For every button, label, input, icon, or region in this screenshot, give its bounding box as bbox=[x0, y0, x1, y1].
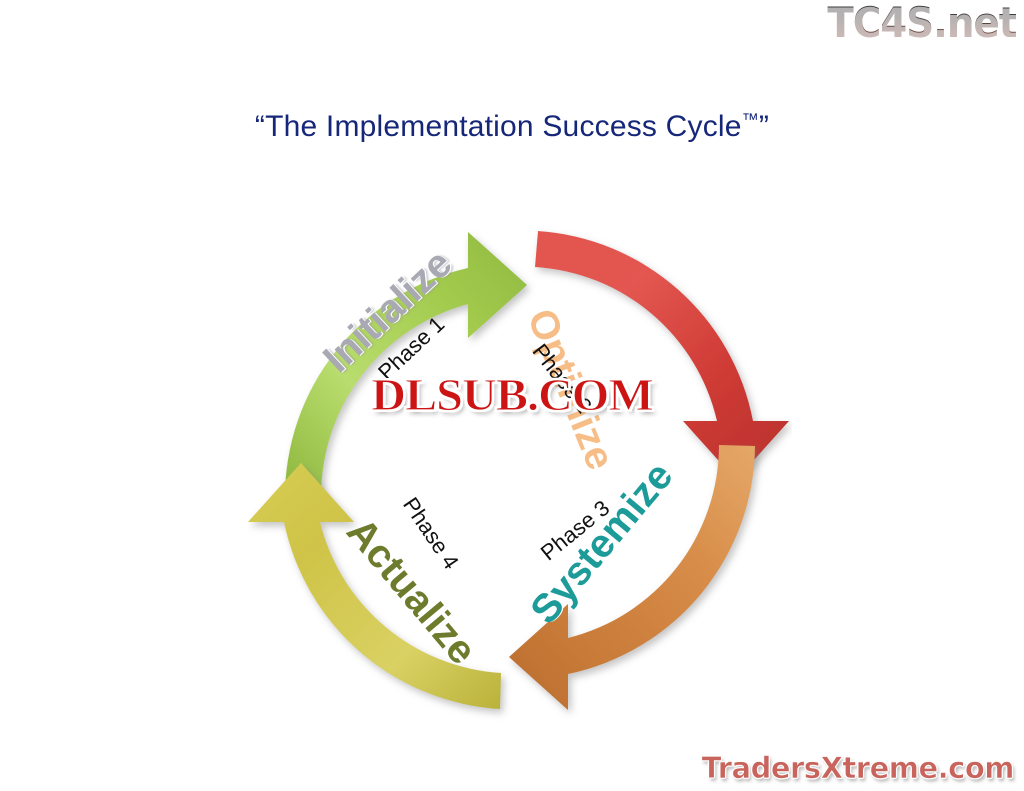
page-title-text: “The Implementation Success Cycle bbox=[255, 110, 742, 143]
page-title: “The Implementation Success Cycle™” bbox=[0, 110, 1024, 144]
implementation-success-cycle-diagram bbox=[248, 208, 792, 732]
trademark-symbol: ™ bbox=[742, 110, 759, 129]
footer-logo-tradersxtreme: TradersXtreme.com bbox=[702, 754, 1014, 783]
arc-phase-4-actualize bbox=[248, 463, 501, 709]
title-closing-quote: ” bbox=[759, 110, 769, 143]
center-watermark-dlsub: DLSUB.COM bbox=[0, 368, 1024, 421]
slide-canvas: TC4S.net “The Implementation Success Cyc… bbox=[0, 0, 1024, 791]
brand-logo-tc4s: TC4S.net bbox=[827, 2, 1016, 44]
